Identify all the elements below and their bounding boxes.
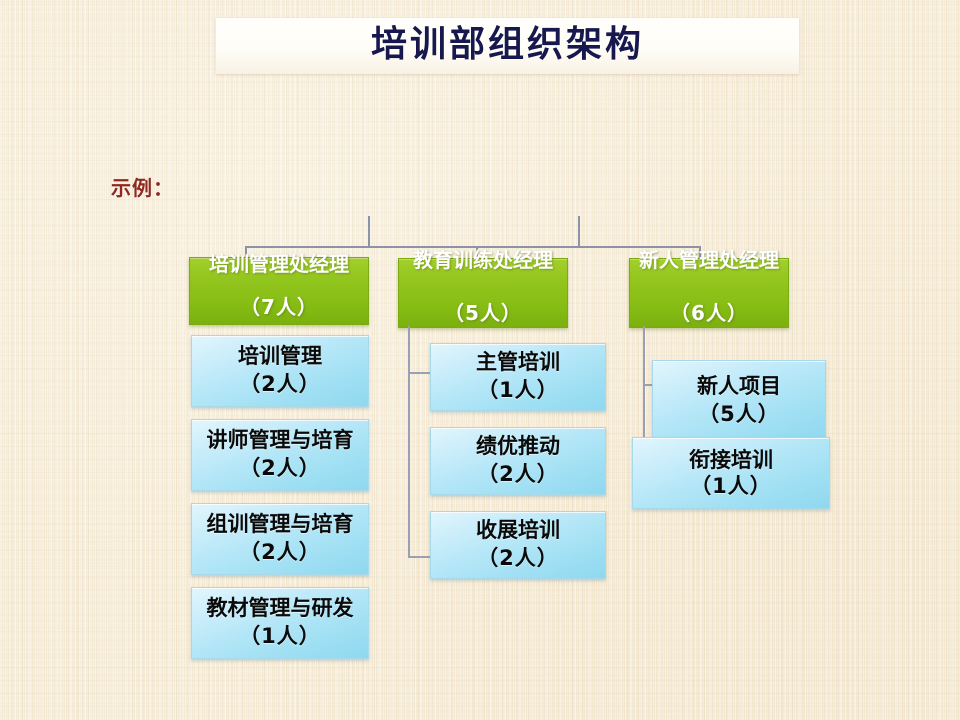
team-3-2-count: （1人）: [690, 473, 772, 499]
team-2-3-title: 收展培训: [476, 517, 560, 543]
team-1-2-count: （2人）: [239, 453, 321, 483]
connector-root-horizontal-bus: [245, 246, 700, 248]
team-box-2-2[interactable]: 绩优推动 （2人）: [430, 427, 606, 495]
dept-box-2[interactable]: 教育训练处经理 （5人）: [398, 258, 568, 328]
page-title: 培训部组织架构: [371, 27, 644, 63]
connector-dept-2-branch-1: [408, 372, 430, 374]
example-label: 示例：: [111, 172, 174, 201]
team-box-1-2[interactable]: 讲师管理与培育 （2人）: [191, 419, 369, 491]
team-box-3-2[interactable]: 衔接培训 （1人）: [632, 437, 830, 509]
connector-to-dept-3: [699, 246, 701, 258]
org-chart-canvas: 培训部组织架构 示例： 培训管理处经理 （7人） 培训管理 （2人） 讲师管理与…: [0, 0, 960, 720]
dept-1-title: 培训管理处经理: [190, 252, 368, 277]
dept-2-title: 教育训练处经理: [399, 248, 567, 273]
team-3-1-title: 新人项目: [697, 373, 781, 399]
team-2-1-count: （1人）: [477, 375, 559, 405]
team-1-3-count: （2人）: [239, 537, 321, 567]
team-box-1-4[interactable]: 教材管理与研发 （1人）: [191, 587, 369, 659]
connector-root-stub-right: [578, 216, 580, 248]
team-box-2-3[interactable]: 收展培训 （2人）: [430, 511, 606, 579]
team-box-2-1[interactable]: 主管培训 （1人）: [430, 343, 606, 411]
connector-dept-2-branch-3: [408, 556, 430, 558]
dept-1-count: （7人）: [190, 291, 368, 320]
connector-to-dept-2: [476, 246, 478, 258]
dept-3-title: 新人管理处经理: [630, 248, 788, 273]
title-banner: 培训部组织架构: [216, 18, 799, 74]
team-box-1-3[interactable]: 组训管理与培育 （2人）: [191, 503, 369, 575]
team-box-1-1[interactable]: 培训管理 （2人）: [191, 335, 369, 407]
dept-2-count: （5人）: [399, 297, 567, 326]
connector-dept-2-spine: [408, 326, 410, 558]
team-1-1-title: 培训管理: [238, 343, 322, 369]
team-3-1-count: （5人）: [698, 399, 780, 429]
team-2-2-title: 绩优推动: [476, 433, 560, 459]
dept-box-3[interactable]: 新人管理处经理 （6人）: [629, 258, 789, 328]
team-1-4-title: 教材管理与研发: [207, 595, 354, 621]
connector-dept-3-spine: [643, 326, 645, 438]
team-1-4-count: （1人）: [239, 621, 321, 651]
team-box-3-1[interactable]: 新人项目 （5人）: [652, 360, 826, 442]
dept-box-1[interactable]: 培训管理处经理 （7人）: [189, 257, 369, 325]
team-2-2-count: （2人）: [477, 459, 559, 489]
team-3-2-title: 衔接培训: [689, 447, 773, 473]
connector-root-stub-left: [368, 216, 370, 248]
dept-3-count: （6人）: [630, 297, 788, 326]
team-1-1-count: （2人）: [239, 369, 321, 399]
team-2-3-count: （2人）: [477, 543, 559, 573]
team-1-2-title: 讲师管理与培育: [207, 427, 354, 453]
team-1-3-title: 组训管理与培育: [207, 511, 354, 537]
team-2-1-title: 主管培训: [476, 349, 560, 375]
